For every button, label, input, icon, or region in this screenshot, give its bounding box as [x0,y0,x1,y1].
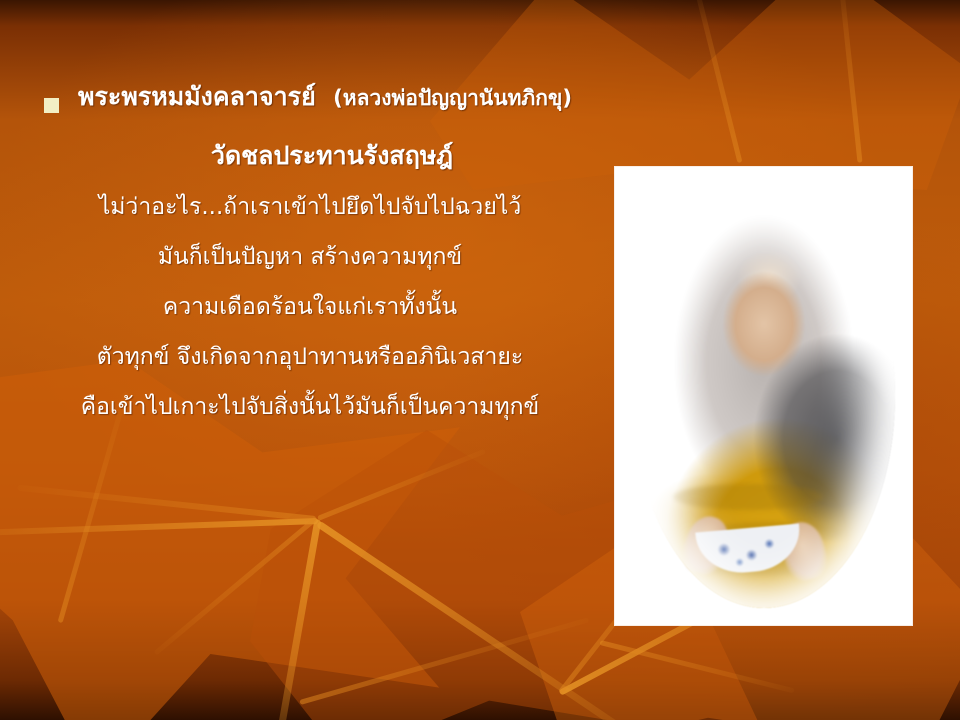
page-title: พระพรหมมังคลาจารย์ (หลวงพ่อปัญญานันทภิกข… [78,84,572,110]
body-line: ความเดือดร้อนใจแก่เราทั้งนั้น [0,296,620,319]
slide-canvas: พระพรหมมังคลาจารย์ (หลวงพ่อปัญญานันทภิกข… [0,0,960,720]
hand-right [776,518,831,584]
page-subtitle: วัดชลประทานรังสฤษฎ์ [44,136,620,176]
title-parenthetical: (หลวงพ่อปัญญานันทภิกขุ) [333,86,572,110]
alms-bowl [695,524,802,577]
title-row: พระพรหมมังคลาจารย์ (หลวงพ่อปัญญานันทภิกข… [44,84,620,113]
body-line: มันก็เป็นปัญหา สร้างความทุกข์ [0,246,620,269]
portrait-photo-image [615,167,912,625]
monk-portrait [633,184,895,608]
square-bullet-icon [44,98,59,113]
body-line: คือเข้าไปเกาะไปจับสิ่งนั้นไว้มันก็เป็นคว… [0,396,620,419]
portrait-photo-frame[interactable] [615,167,912,625]
hand-left [677,511,735,579]
body-text-block: ไม่ว่าอะไร...ถ้าเราเข้าไปยึดไปจับไปฉวยไว… [0,196,620,446]
body-line: ไม่ว่าอะไร...ถ้าเราเข้าไปยึดไปจับไปฉวยไว… [0,196,620,219]
title-main: พระพรหมมังคลาจารย์ [78,82,316,111]
text-column: พระพรหมมังคลาจารย์ (หลวงพ่อปัญญานันทภิกข… [0,0,620,720]
body-line: ตัวทุกข์ จึงเกิดจากอุปาทานหรืออภินิเวสาย… [0,346,620,369]
